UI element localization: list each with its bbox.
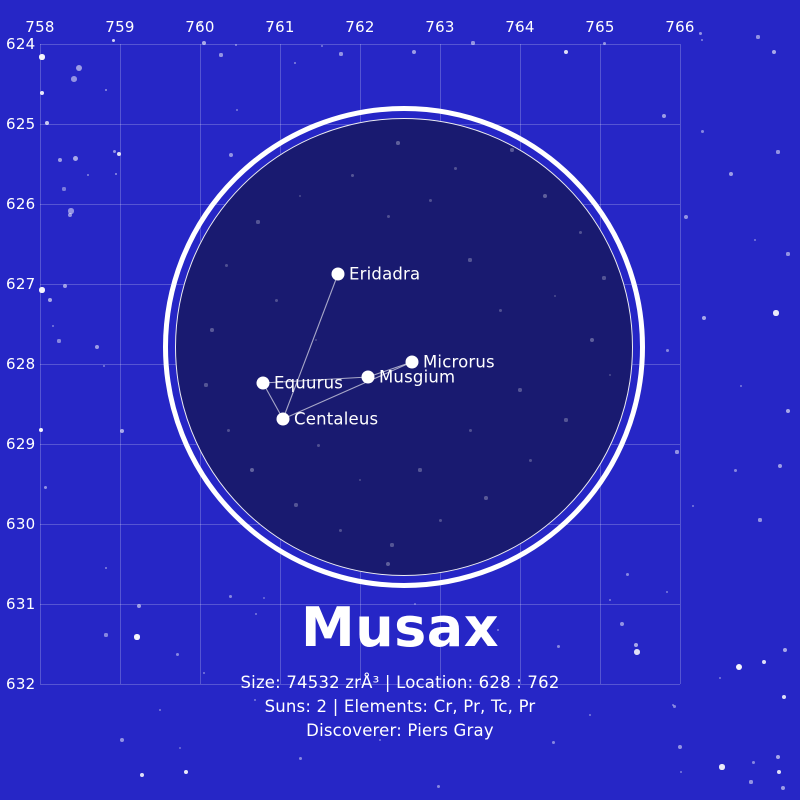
star-map-canvas: 758759760761762763764765766 624625626627… — [0, 0, 800, 800]
background-star — [202, 41, 206, 45]
background-star — [626, 573, 629, 576]
background-star — [589, 714, 592, 717]
planet-info-panel: Musax Size: 74532 zrÅ³ | Location: 628 :… — [0, 600, 800, 742]
background-star — [777, 770, 782, 775]
planet-discoverer: Discoverer: Piers Gray — [0, 719, 800, 743]
background-star — [39, 287, 44, 292]
background-star — [117, 152, 121, 156]
background-star — [497, 629, 500, 632]
background-star — [776, 150, 779, 153]
background-star — [557, 645, 560, 648]
background-star — [113, 150, 116, 153]
background-star — [63, 284, 68, 289]
disc-star — [253, 539, 256, 542]
background-star — [778, 464, 782, 468]
background-star — [781, 786, 785, 790]
background-star — [699, 32, 702, 35]
background-star — [105, 89, 108, 92]
y-axis-tick-label: 624 — [6, 35, 34, 53]
background-star — [68, 208, 73, 213]
background-star — [680, 771, 683, 774]
background-star — [719, 677, 722, 680]
background-star — [673, 705, 676, 708]
background-star — [39, 428, 44, 433]
grid-line-vertical — [40, 44, 41, 684]
background-star — [692, 505, 695, 508]
background-star — [702, 316, 706, 320]
grid-line-vertical — [680, 44, 681, 684]
background-star — [120, 738, 124, 742]
background-star — [729, 172, 733, 176]
background-star — [254, 699, 257, 702]
background-star — [564, 50, 569, 55]
background-star — [236, 109, 239, 112]
background-star — [176, 653, 179, 656]
background-star — [203, 672, 206, 675]
constellation-star-node[interactable] — [277, 413, 290, 426]
background-star — [634, 643, 639, 648]
planet-ring-outer — [163, 106, 645, 588]
background-star — [786, 409, 790, 413]
x-axis-tick-label: 766 — [665, 18, 695, 36]
background-star — [786, 252, 789, 255]
disc-star — [283, 131, 286, 134]
x-axis-tick-label: 761 — [265, 18, 295, 36]
x-axis-tick-label: 763 — [425, 18, 455, 36]
background-star — [666, 349, 669, 352]
y-axis-tick-label: 627 — [6, 275, 34, 293]
background-star — [104, 633, 107, 636]
background-star — [105, 567, 108, 570]
background-star — [39, 54, 44, 59]
background-star — [71, 76, 77, 82]
background-star — [321, 45, 324, 48]
background-star — [159, 709, 162, 712]
background-star — [684, 215, 688, 219]
grid-line-vertical — [120, 44, 121, 684]
background-star — [740, 385, 743, 388]
x-axis-tick-label: 762 — [345, 18, 375, 36]
background-star — [754, 239, 757, 242]
background-star — [137, 604, 141, 608]
background-star — [294, 62, 297, 65]
background-star — [229, 595, 232, 598]
constellation-star-node[interactable] — [332, 268, 345, 281]
planet-size-location: Size: 74532 zrÅ³ | Location: 628 : 762 — [0, 671, 800, 695]
background-star — [701, 39, 704, 42]
background-star — [437, 785, 440, 788]
background-star — [719, 764, 724, 769]
background-star — [471, 41, 474, 44]
y-axis-tick-label: 628 — [6, 355, 34, 373]
x-axis-tick-label: 760 — [185, 18, 215, 36]
y-axis-tick-label: 629 — [6, 435, 34, 453]
constellation-star-label: Musgium — [379, 368, 455, 387]
background-star — [762, 660, 767, 665]
y-axis-tick-label: 631 — [6, 595, 34, 613]
grid-line-horizontal — [40, 44, 680, 45]
background-star — [140, 773, 145, 778]
background-star — [772, 50, 776, 54]
background-star — [219, 53, 222, 56]
background-star — [662, 114, 666, 118]
background-star — [40, 91, 45, 96]
y-axis-tick-label: 632 — [6, 675, 34, 693]
background-star — [736, 664, 742, 670]
background-star — [120, 429, 124, 433]
background-star — [499, 699, 502, 702]
background-star — [134, 634, 139, 639]
disc-star — [299, 567, 302, 570]
background-star — [328, 626, 331, 629]
background-star — [412, 50, 416, 54]
disc-star — [238, 163, 242, 167]
background-star — [609, 599, 612, 602]
background-star — [620, 622, 624, 626]
background-star — [776, 755, 780, 759]
x-axis-tick-label: 764 — [505, 18, 535, 36]
grid-line-horizontal — [40, 604, 680, 605]
background-star — [95, 345, 99, 349]
background-star — [678, 745, 682, 749]
background-star — [734, 469, 737, 472]
constellation-star-label: Equurus — [274, 374, 343, 393]
background-star — [48, 298, 52, 302]
background-star — [229, 153, 233, 157]
background-star — [773, 310, 778, 315]
background-star — [52, 325, 55, 328]
background-star — [666, 591, 669, 594]
background-star — [45, 121, 49, 125]
page-title: Musax — [0, 600, 800, 657]
background-star — [752, 761, 755, 764]
background-star — [179, 747, 182, 750]
background-star — [57, 339, 60, 342]
constellation-star-node[interactable] — [257, 377, 270, 390]
background-star — [672, 704, 675, 707]
background-star — [756, 35, 759, 38]
background-star — [675, 450, 678, 453]
y-axis-tick-label: 626 — [6, 195, 34, 213]
x-axis-tick-label: 758 — [25, 18, 55, 36]
background-star — [68, 213, 72, 217]
background-star — [58, 158, 63, 163]
x-axis-tick-label: 759 — [105, 18, 135, 36]
background-star — [379, 739, 382, 742]
background-star — [115, 173, 118, 176]
y-axis-tick-label: 630 — [6, 515, 34, 533]
background-star — [62, 187, 65, 190]
background-star — [73, 156, 78, 161]
background-star — [255, 613, 258, 616]
background-star — [758, 518, 761, 521]
background-star — [783, 648, 787, 652]
grid-line-horizontal — [40, 684, 680, 685]
background-star — [76, 65, 82, 71]
background-star — [87, 174, 90, 177]
background-star — [184, 770, 189, 775]
background-star — [414, 603, 417, 606]
background-star — [112, 39, 115, 42]
background-star — [552, 741, 555, 744]
constellation-star-label: Centaleus — [294, 410, 378, 429]
y-axis-tick-label: 625 — [6, 115, 34, 133]
constellation-star-label: Eridadra — [349, 265, 420, 284]
background-star — [44, 486, 47, 489]
background-star — [701, 130, 704, 133]
background-star — [103, 365, 106, 368]
planet-suns-elements: Suns: 2 | Elements: Cr, Pr, Tc, Pr — [0, 695, 800, 719]
background-star — [749, 780, 752, 783]
background-star — [235, 44, 238, 47]
background-star — [299, 757, 302, 760]
background-star — [339, 52, 342, 55]
background-star — [603, 42, 606, 45]
background-star — [634, 649, 640, 655]
background-star — [263, 597, 266, 600]
constellation-star-node[interactable] — [362, 371, 375, 384]
background-star — [782, 695, 787, 700]
x-axis-tick-label: 765 — [585, 18, 615, 36]
